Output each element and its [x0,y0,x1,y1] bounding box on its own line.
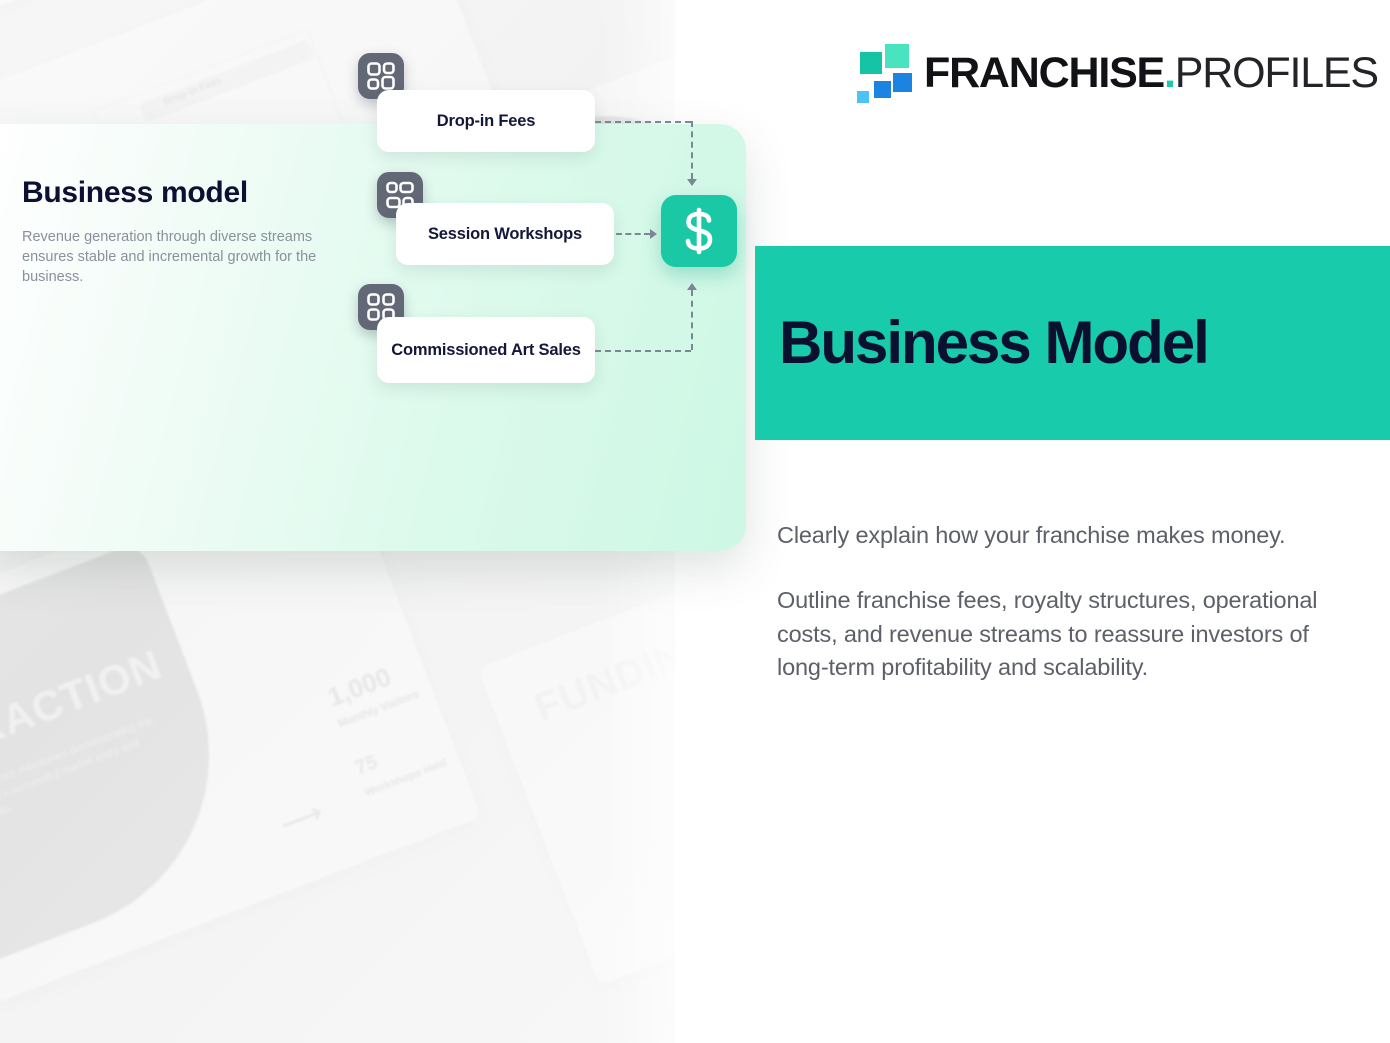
logo-wordmark: FRANCHISE.PROFILES [924,52,1378,95]
connector-middle-horizontal [616,233,650,235]
page-title: Business Model [779,313,1208,373]
connector-bottom-arrowhead [687,283,697,290]
logo-word-profiles: PROFILES [1175,49,1378,97]
logo-dot: . [1164,49,1175,97]
connector-bottom-vertical [691,290,693,350]
node-label: Drop-in Fees [437,111,535,131]
connector-bottom-horizontal [595,350,691,352]
body-paragraph-1: Clearly explain how your franchise makes… [777,519,1352,552]
node-label: Commissioned Art Sales [391,340,580,360]
connector-middle-arrowhead [650,229,657,239]
connector-top-horizontal [595,121,691,123]
node-commissioned-art-sales[interactable]: Commissioned Art Sales [377,317,595,383]
revenue-diagram: Drop-in Fees Session Workshops Commissio… [0,0,760,427]
logo-word-franchise: FRANCHISE [924,49,1164,97]
connector-top-vertical [691,121,693,179]
node-drop-in-fees[interactable]: Drop-in Fees [377,90,595,152]
brand-logo[interactable]: FRANCHISE.PROFILES [852,44,1378,102]
body-paragraph-2: Outline franchise fees, royalty structur… [777,584,1352,684]
dollar-sign-icon[interactable] [661,195,737,267]
title-band: Business Model [755,246,1390,440]
body-copy: Clearly explain how your franchise makes… [777,519,1352,684]
node-label: Session Workshops [428,224,582,244]
node-session-workshops[interactable]: Session Workshops [396,203,614,265]
logo-mark-icon [852,44,908,102]
connector-top-arrowhead [687,179,697,186]
